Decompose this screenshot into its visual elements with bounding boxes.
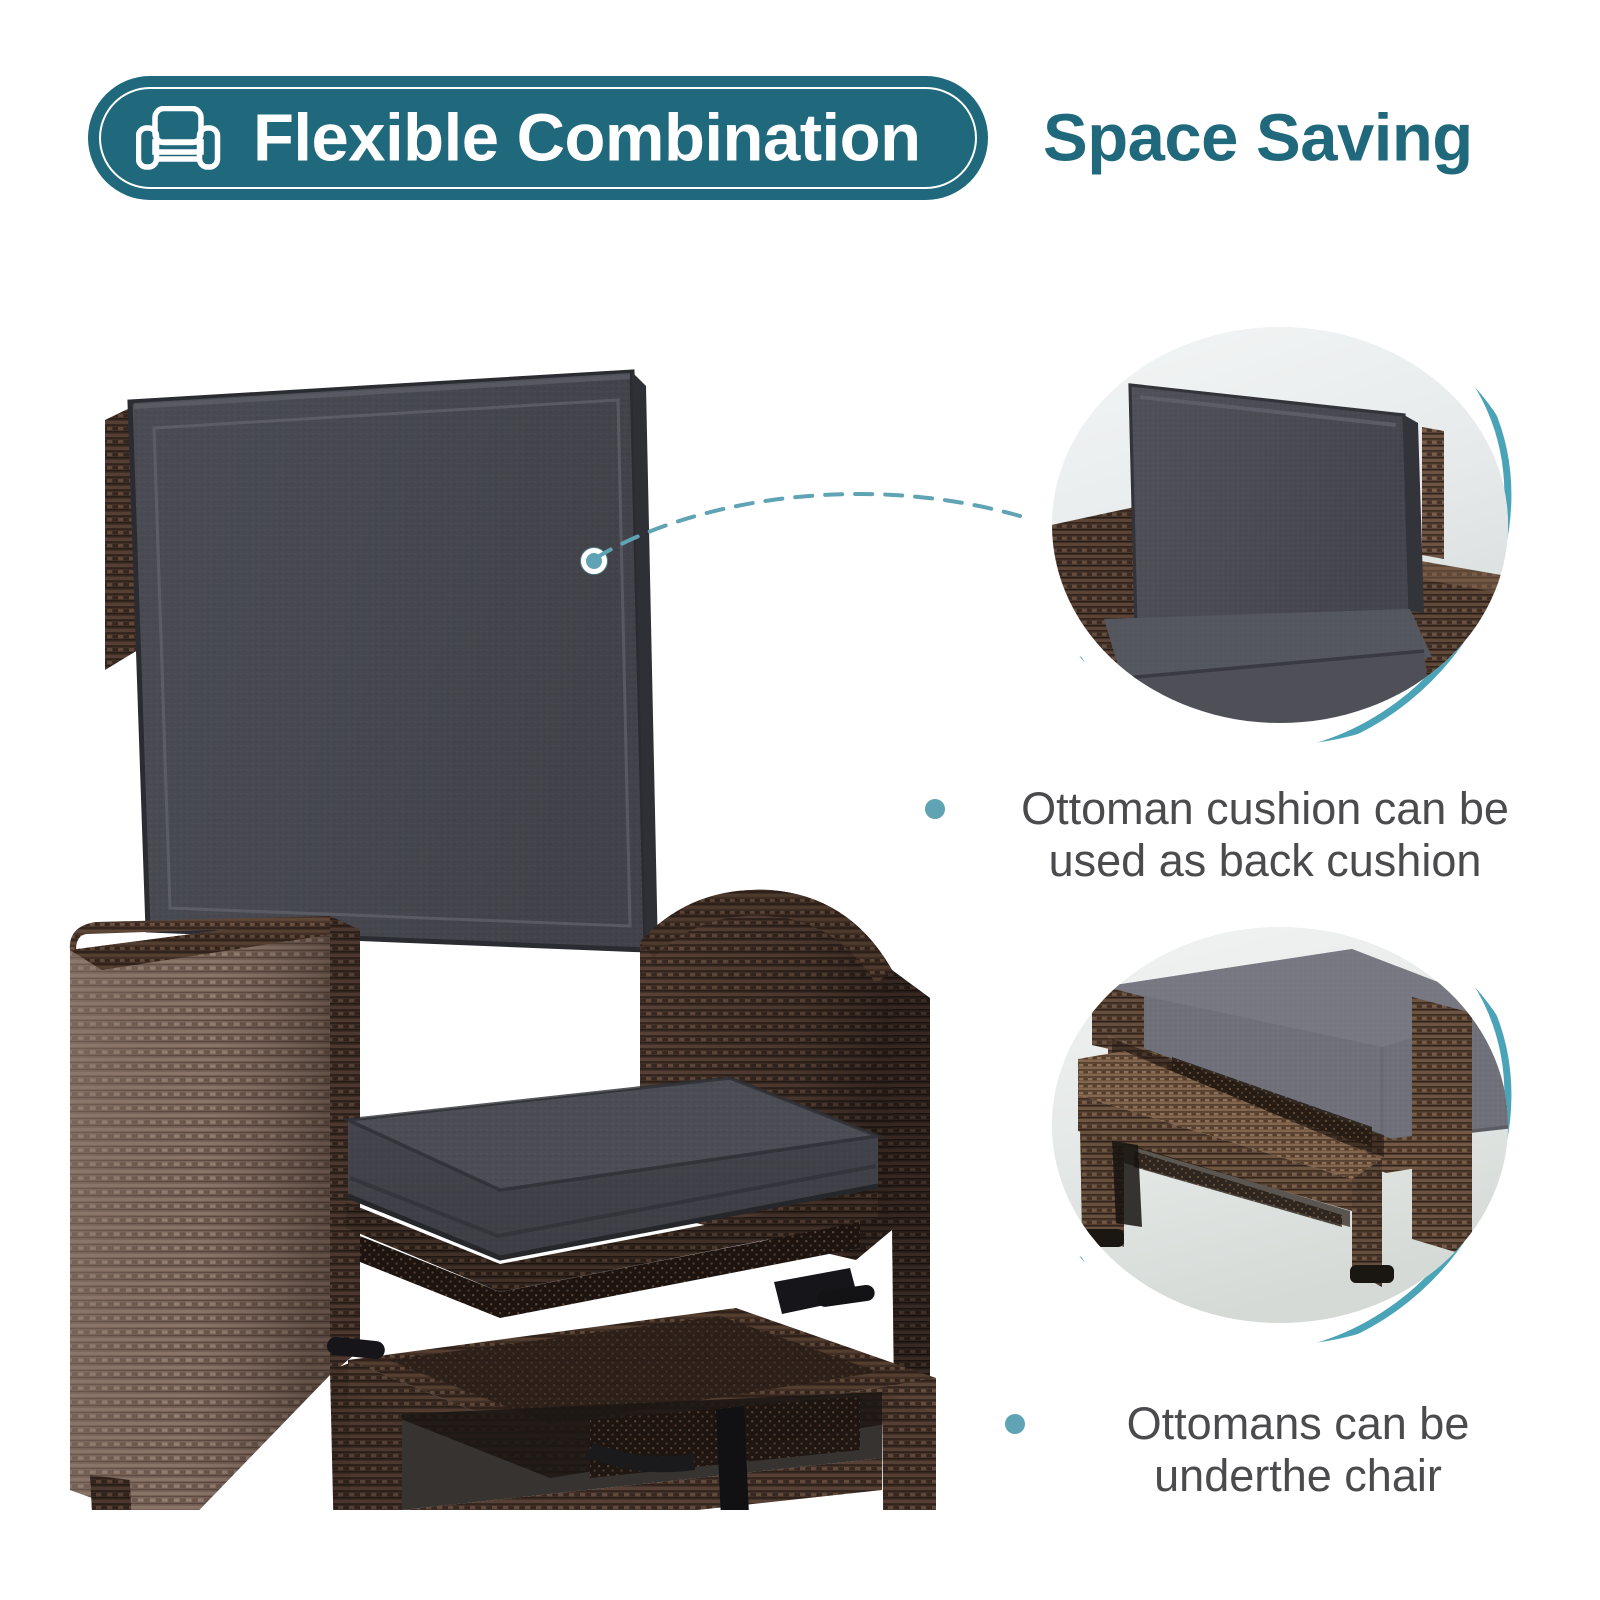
badge-label: Flexible Combination bbox=[253, 100, 921, 177]
flexible-combination-badge: Flexible Combination bbox=[88, 76, 988, 200]
inset-ottoman-under-chair-closeup bbox=[1030, 905, 1530, 1345]
inset-back-cushion-closeup bbox=[1030, 305, 1530, 745]
inset-photo-ottoman bbox=[1052, 927, 1508, 1323]
bullet-icon bbox=[1005, 1414, 1025, 1434]
annotation-2-text: Ottomans can be underthe chair bbox=[1073, 1398, 1523, 1502]
bullet-icon bbox=[925, 799, 945, 819]
space-saving-label: Space Saving bbox=[1043, 100, 1473, 177]
header-banner: Flexible Combination Space Saving bbox=[0, 0, 1600, 230]
annotation-ottomans-under-chair: Ottomans can be underthe chair bbox=[1005, 1398, 1545, 1502]
dashed-connector-arc bbox=[590, 440, 1060, 620]
armchair-icon bbox=[136, 106, 234, 170]
inset-photo-back-cushion bbox=[1052, 327, 1508, 723]
annotation-ottoman-cushion: Ottoman cushion can be used as back cush… bbox=[925, 783, 1535, 887]
annotation-1-text: Ottoman cushion can be used as back cush… bbox=[1005, 783, 1525, 887]
